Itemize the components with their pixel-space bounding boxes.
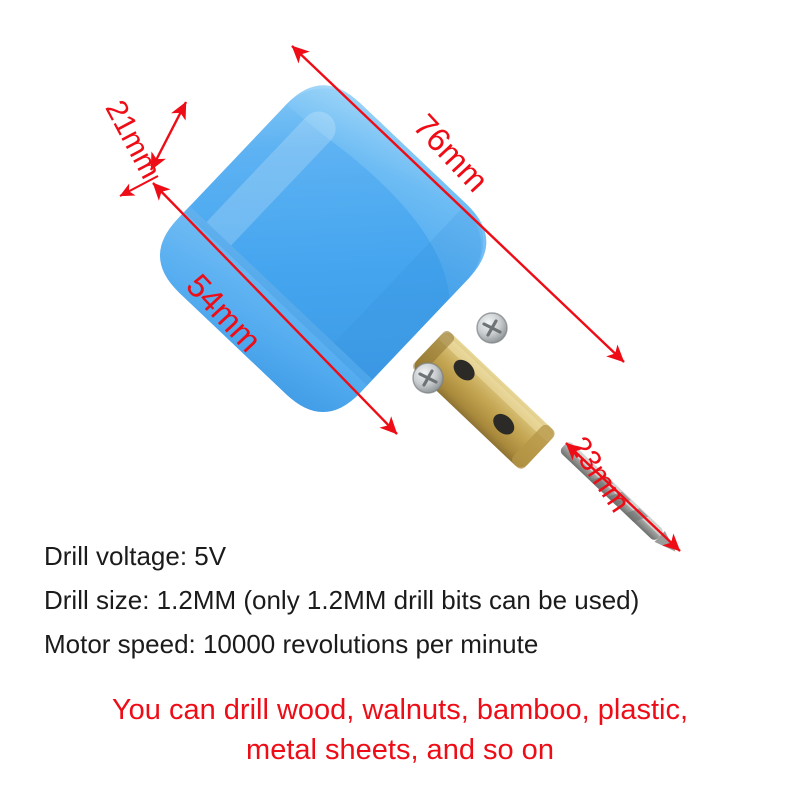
spec-line-motor-speed: Motor speed: 10000 revolutions per minut… [44, 624, 800, 664]
product-image-canvas: 21mm 76mm 54mm 23mm Drill voltage: 5V Dr… [0, 0, 800, 800]
screw-lower [413, 363, 443, 393]
promo-line-1: You can drill wood, walnuts, bamboo, pla… [0, 690, 800, 730]
spec-line-voltage: Drill voltage: 5V [44, 536, 800, 576]
spec-line-drill-size: Drill size: 1.2MM (only 1.2MM drill bits… [44, 580, 800, 620]
drill-graphic [0, 0, 800, 560]
promotional-text-block: You can drill wood, walnuts, bamboo, pla… [0, 690, 800, 770]
product-illustration: 21mm 76mm 54mm 23mm [0, 0, 800, 560]
screw-upper [477, 313, 507, 343]
promo-line-2: metal sheets, and so on [0, 730, 800, 770]
specification-text-block: Drill voltage: 5V Drill size: 1.2MM (onl… [0, 536, 800, 668]
drill-chuck [411, 329, 557, 471]
